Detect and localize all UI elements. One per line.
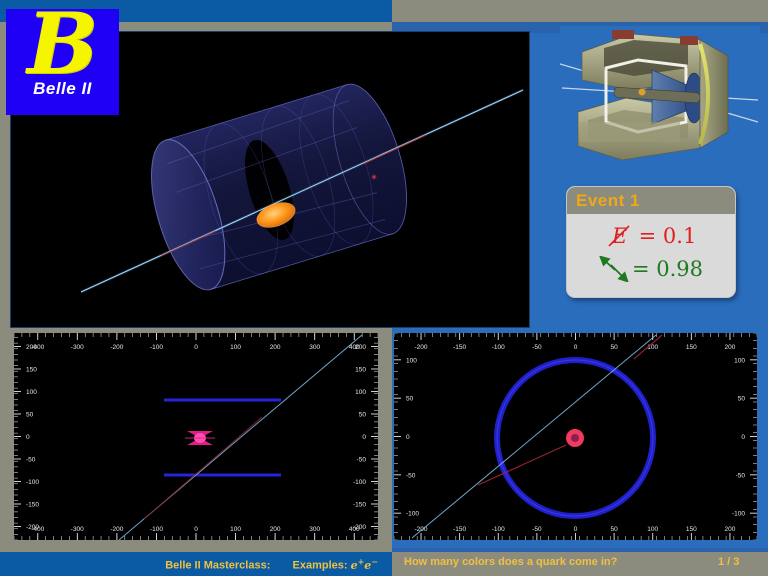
event-info-header: Event 1: [567, 187, 735, 214]
svg-text:-100: -100: [150, 344, 163, 351]
svg-text:-200: -200: [26, 524, 39, 531]
svg-text:0: 0: [406, 434, 410, 441]
svg-text:300: 300: [309, 526, 320, 533]
svg-text:200: 200: [270, 344, 281, 351]
footer-question-text: How many colors does a quark come in?: [404, 556, 617, 568]
header-band-right: [392, 0, 768, 22]
svg-text:100: 100: [647, 344, 658, 351]
footer-right-strip: [392, 548, 768, 552]
footer-left-panel: Belle II Masterclass: Examples: e+e−: [0, 552, 392, 576]
missing-energy-row: E = 0.1: [567, 219, 735, 252]
svg-text:50: 50: [610, 344, 618, 351]
svg-text:-100: -100: [26, 479, 39, 486]
svg-text:50: 50: [406, 396, 414, 403]
detector-interaction-point: [639, 89, 646, 96]
svg-text:-50: -50: [736, 472, 746, 479]
svg-text:50: 50: [738, 396, 746, 403]
svg-text:-200: -200: [353, 524, 366, 531]
svg-text:-100: -100: [492, 526, 505, 533]
svg-text:0: 0: [362, 434, 366, 441]
svg-text:-50: -50: [406, 472, 416, 479]
svg-text:200: 200: [270, 526, 281, 533]
svg-text:-200: -200: [110, 344, 123, 351]
plot-end-view-xy[interactable]: -200-200-150-150-100-100-50-500050501001…: [394, 333, 757, 540]
svg-text:0: 0: [194, 526, 198, 533]
svg-text:50: 50: [26, 412, 34, 419]
svg-text:100: 100: [406, 357, 417, 364]
svg-text:0: 0: [741, 434, 745, 441]
detector-render-canvas: [560, 26, 760, 166]
missing-energy-icon: E: [606, 223, 634, 249]
svg-text:-200: -200: [110, 526, 123, 533]
svg-text:-150: -150: [453, 344, 466, 351]
svg-text:300: 300: [309, 344, 320, 351]
event-info-title: Event 1: [576, 191, 640, 211]
svg-text:200: 200: [355, 344, 366, 351]
footer-author: Belle II Masterclass:: [165, 560, 270, 572]
svg-text:150: 150: [686, 526, 697, 533]
svg-text:100: 100: [230, 526, 241, 533]
svg-text:50: 50: [359, 412, 367, 419]
detector-base-panel: [580, 122, 680, 142]
thrust-row: = 0.98: [567, 252, 735, 285]
slide-root: B Belle II: [0, 0, 768, 576]
svg-text:0: 0: [26, 434, 30, 441]
svg-text:-50: -50: [26, 457, 36, 464]
svg-text:100: 100: [355, 389, 366, 396]
svg-text:-100: -100: [406, 511, 419, 518]
svg-text:150: 150: [355, 367, 366, 374]
plot-end-view-canvas: -200-200-150-150-100-100-50-500050501001…: [394, 333, 757, 540]
svg-text:200: 200: [725, 344, 736, 351]
svg-text:0: 0: [194, 344, 198, 351]
belle2-logo-label: Belle II: [6, 79, 119, 99]
event-info-body: E = 0.1: [567, 214, 735, 285]
plot-side-view-canvas: -400-400-300-300-200-200-100-10000100100…: [14, 333, 378, 540]
svg-text:100: 100: [230, 344, 241, 351]
event-info-box[interactable]: Event 1 E = 0.1: [566, 186, 736, 298]
svg-text:-100: -100: [492, 344, 505, 351]
svg-text:-150: -150: [353, 502, 366, 509]
track-hit-glow: [371, 174, 377, 180]
slide-footer: Belle II Masterclass: Examples: e+e− How…: [0, 548, 768, 576]
svg-text:50: 50: [610, 526, 618, 533]
interaction-point-marker: [566, 429, 584, 447]
svg-text:-300: -300: [71, 344, 84, 351]
belle2-logo-glyph: B: [6, 9, 119, 83]
svg-text:-100: -100: [353, 479, 366, 486]
svg-text:150: 150: [26, 367, 37, 374]
svg-text:-50: -50: [532, 526, 542, 533]
svg-text:100: 100: [647, 526, 658, 533]
svg-text:-100: -100: [150, 526, 163, 533]
plot-side-view-rz[interactable]: -400-400-300-300-200-200-100-10000100100…: [14, 333, 378, 540]
footer-examples-label: Examples:: [293, 560, 348, 572]
svg-text:200: 200: [725, 526, 736, 533]
svg-text:200: 200: [26, 344, 37, 351]
svg-text:100: 100: [734, 357, 745, 364]
svg-text:100: 100: [26, 389, 37, 396]
detector-top-cap-left: [612, 30, 634, 39]
svg-text:-50: -50: [532, 344, 542, 351]
thrust-value: = 0.98: [632, 257, 703, 281]
belle2-logo: B Belle II: [6, 9, 119, 115]
belle2-detector-render: [560, 26, 760, 166]
thrust-arrows-icon: [599, 256, 627, 282]
svg-text:-150: -150: [26, 502, 39, 509]
detector-top-cap-right: [680, 36, 698, 45]
svg-text:-200: -200: [415, 344, 428, 351]
svg-text:-150: -150: [453, 526, 466, 533]
svg-text:0: 0: [574, 526, 578, 533]
missing-energy-value: = 0.1: [639, 224, 697, 248]
footer-page-number: 1 / 3: [718, 556, 739, 568]
footer-left-text: Belle II Masterclass: Examples: e+e−: [165, 556, 378, 572]
svg-text:-100: -100: [732, 511, 745, 518]
svg-text:-300: -300: [71, 526, 84, 533]
svg-text:150: 150: [686, 344, 697, 351]
svg-text:0: 0: [574, 344, 578, 351]
svg-text:-50: -50: [357, 457, 367, 464]
footer-examples-value: e+e−: [351, 559, 378, 572]
